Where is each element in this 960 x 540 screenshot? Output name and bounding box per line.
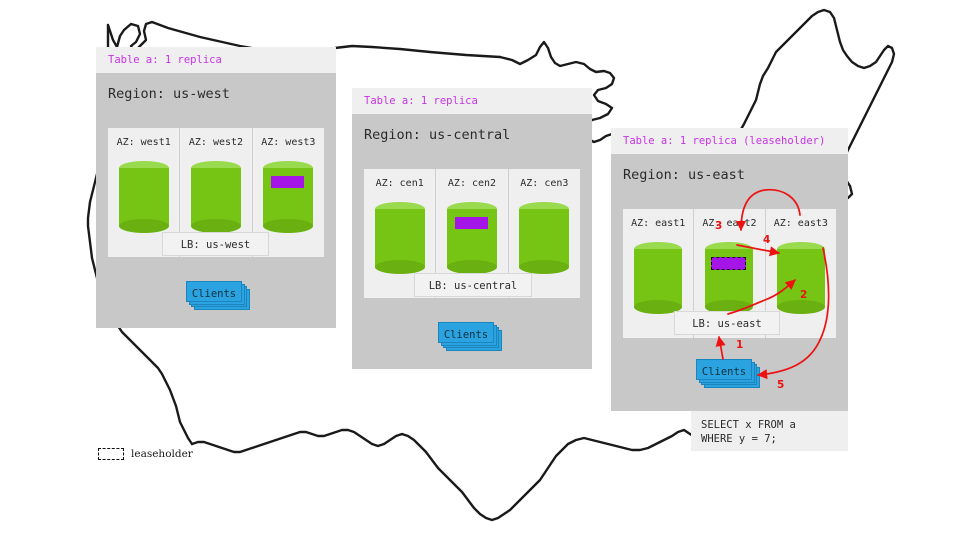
clients-label-us-central[interactable]: Clients	[438, 322, 494, 343]
az-label-east1: AZ: east1	[623, 209, 693, 229]
node-cylinder-west2[interactable]	[191, 161, 241, 233]
arrow-step-1-label: 1	[736, 339, 743, 351]
cylinder-body	[119, 168, 169, 226]
cylinder-bottom-cap	[447, 260, 497, 274]
cylinder-bottom-cap	[119, 219, 169, 233]
range-replica-west3[interactable]	[271, 176, 304, 188]
region-panel-us-east: Table a: 1 replica (leaseholder) Region:…	[611, 128, 848, 411]
sql-query-box: SELECT x FROM a WHERE y = 7;	[691, 411, 848, 451]
cylinder-body	[634, 249, 682, 307]
clients-stack-us-east[interactable]: Clients	[696, 359, 762, 388]
cylinder-bottom-cap	[191, 219, 241, 233]
clients-stack-us-west[interactable]: Clients	[186, 281, 252, 310]
az-label-east3: AZ: east3	[766, 209, 836, 229]
cylinder-bottom-cap	[375, 260, 425, 274]
az-label-cen3: AZ: cen3	[509, 169, 580, 189]
region-title-us-west: Region: us-west	[96, 73, 336, 112]
region-header-us-central: Table a: 1 replica	[352, 88, 592, 114]
region-panel-us-central: Table a: 1 replica Region: us-central AZ…	[352, 88, 592, 369]
region-header-us-east: Table a: 1 replica (leaseholder)	[611, 128, 848, 154]
node-cylinder-east3[interactable]	[777, 242, 825, 314]
region-panel-us-west: Table a: 1 replica Region: us-west AZ: w…	[96, 47, 336, 328]
node-cylinder-cen1[interactable]	[375, 202, 425, 274]
az-label-west1: AZ: west1	[108, 128, 179, 148]
arrow-step-2-label: 2	[800, 289, 807, 301]
node-cylinder-west1[interactable]	[119, 161, 169, 233]
node-cylinder-cen3[interactable]	[519, 202, 569, 274]
range-leaseholder-east2[interactable]	[711, 257, 746, 270]
load-balancer-us-east[interactable]: LB: us-east	[674, 311, 780, 335]
cylinder-body	[191, 168, 241, 226]
node-cylinder-west3[interactable]	[263, 161, 313, 233]
arrow-step-4-label: 4	[763, 234, 770, 246]
clients-stack-us-central[interactable]: Clients	[438, 322, 504, 351]
region-header-us-west: Table a: 1 replica	[96, 47, 336, 73]
az-label-west2: AZ: west2	[180, 128, 251, 148]
cylinder-bottom-cap	[263, 219, 313, 233]
arrow-step-5-label: 5	[777, 379, 784, 391]
cylinder-body	[375, 209, 425, 267]
diagram-canvas: Table a: 1 replica Region: us-west AZ: w…	[0, 0, 960, 540]
clients-label-us-east[interactable]: Clients	[696, 359, 752, 380]
cylinder-body	[519, 209, 569, 267]
node-cylinder-east1[interactable]	[634, 242, 682, 314]
clients-label-us-west[interactable]: Clients	[186, 281, 242, 302]
region-title-us-east: Region: us-east	[611, 154, 848, 193]
az-label-west3: AZ: west3	[253, 128, 324, 148]
legend: leaseholder	[98, 448, 193, 460]
arrow-step-3-label: 3	[715, 220, 722, 232]
az-label-cen2: AZ: cen2	[436, 169, 507, 189]
region-title-us-central: Region: us-central	[352, 114, 592, 153]
dashed-rect-icon	[98, 448, 124, 460]
load-balancer-us-west[interactable]: LB: us-west	[162, 232, 269, 256]
range-replica-cen2[interactable]	[455, 217, 488, 229]
node-cylinder-east2[interactable]	[705, 242, 753, 314]
load-balancer-us-central[interactable]: LB: us-central	[414, 273, 532, 297]
node-cylinder-cen2[interactable]	[447, 202, 497, 274]
cylinder-bottom-cap	[519, 260, 569, 274]
az-label-cen1: AZ: cen1	[364, 169, 435, 189]
cylinder-bottom-cap	[777, 300, 825, 314]
legend-label: leaseholder	[131, 448, 193, 460]
az-label-east2: AZ: east2	[694, 209, 764, 229]
